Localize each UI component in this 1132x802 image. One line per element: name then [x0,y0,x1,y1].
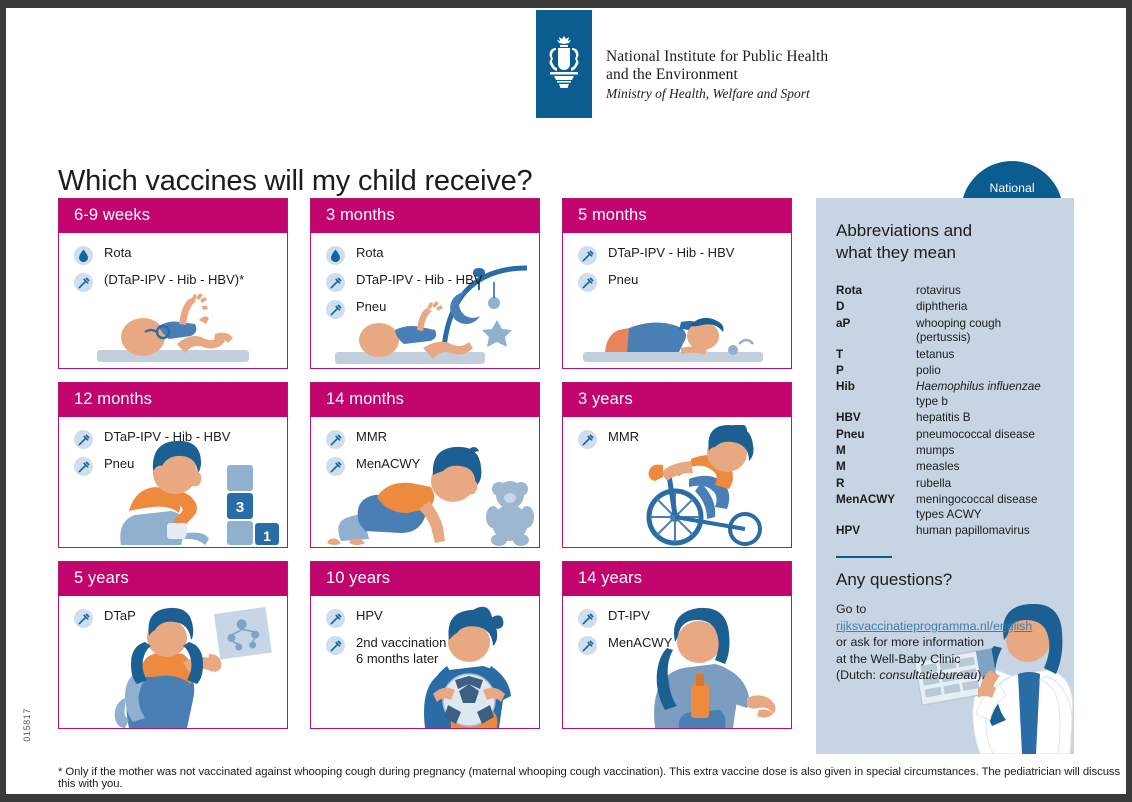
abbreviation-row: Rotarotavirus [836,284,1054,300]
schedule-row-2: 12 months DTaP-IPV - Hib - HBV Pneu [58,382,794,548]
vaccine-row: (DTaP-IPV - Hib - HBV)* [74,272,287,292]
logo-blue-bar [536,10,592,118]
goto-prefix: Go to [836,602,866,616]
syringe-icon [578,246,597,265]
card-age-label: 12 months [59,383,287,417]
syringe-icon [578,430,597,449]
abbreviation-key: P [836,364,916,380]
vaccine-label: DTaP [104,608,136,624]
page-title: Which vaccines will my child receive? [58,165,532,198]
abbreviation-row: Rrubella [836,477,1054,493]
abbreviation-value: meningococcal disease types ACWY [916,493,1054,524]
abbreviation-value: tetanus [916,348,1054,364]
badge-line-1: National [989,181,1034,196]
logo-line-1: National Institute for Public Health [606,48,828,66]
syringe-icon [74,609,93,628]
abbreviation-key: R [836,477,916,493]
card-age-label: 3 months [311,199,539,233]
logo-line-3: Ministry of Health, Welfare and Sport [606,85,828,103]
abbreviation-value: human papillomavirus [916,524,1054,540]
abbreviation-key: D [836,300,916,316]
abbreviation-key: Pneu [836,428,916,444]
abbreviation-value-hib: Haemophilus influenzae type b [916,380,1054,411]
vaccine-label: Pneu [356,299,386,315]
vaccine-row: DTaP [74,608,287,628]
abbreviation-value: pneumococcal disease [916,428,1054,444]
abbreviation-value: whooping cough (pertussis) [916,317,1054,348]
vaccine-label: 2nd vaccination 6 months later [356,635,446,667]
vaccine-row: HPV [326,608,539,628]
abbreviation-row: Ddiphtheria [836,300,1054,316]
abbreviation-value-italic: Haemophilus influenzae [916,380,1041,393]
abbreviation-key: Hib [836,380,916,411]
syringe-icon [74,457,93,476]
abbreviation-key: MenACWY [836,493,916,524]
vaccine-row: MMR [326,429,539,449]
abbreviation-key: Rota [836,284,916,300]
abbreviation-row: aPwhooping cough (pertussis) [836,317,1054,348]
logo-line-2: and the Environment [606,66,828,84]
schedule-card-14-months[interactable]: 14 months MMR MenACWY [310,382,540,548]
vaccine-label: DTaP-IPV - Hib - HBV [356,272,482,288]
card-age-label: 5 months [563,199,791,233]
abbreviation-row: HibHaemophilus influenzae type b [836,380,1054,411]
vaccine-label: (DTaP-IPV - Hib - HBV)* [104,272,244,288]
football [443,674,495,726]
schedule-row-1: 6-9 weeks Rota (DTaP-IPV - Hib - HBV)* [58,198,794,369]
netherlands-coat-of-arms-icon [544,34,584,94]
abbreviation-key: HBV [836,411,916,427]
abbreviation-value: rubella [916,477,1054,493]
questions-line-3: at the Well-Baby Clinic [836,652,960,666]
card-body: MMR [563,417,791,547]
schedule-card-10-years[interactable]: 10 years HPV 2nd vaccination 6 months la… [310,561,540,729]
vaccine-row: Pneu [578,272,791,292]
vaccine-label: Rota [104,245,131,261]
syringe-icon [74,273,93,292]
vaccine-row: Pneu [74,456,287,476]
card-body: Rota DTaP-IPV - Hib - HBV Pneu [311,233,539,368]
abbreviation-value: hepatitis B [916,411,1054,427]
rivm-logo: National Institute for Public Health and… [536,10,828,118]
card-body: DTaP-IPV - Hib - HBV Pneu [563,233,791,368]
vaccine-row: Rota [326,245,539,265]
document-side-code: 015817 [22,708,32,742]
abbreviation-value: measles [916,460,1054,476]
vaccine-label: MMR [356,429,387,445]
abbreviation-row: Ttetanus [836,348,1054,364]
schedule-card-14-years[interactable]: 14 years DT-IPV MenACWY [562,561,792,729]
vaccine-row: 2nd vaccination 6 months later [326,635,539,667]
card-age-label: 14 years [563,562,791,596]
abbreviation-row: Mmumps [836,444,1054,460]
vaccine-row: DTaP-IPV - Hib - HBV [74,429,287,449]
block-number-1: 1 [263,528,271,544]
syringe-icon [578,273,597,292]
abbreviation-key: HPV [836,524,916,540]
card-age-label: 10 years [311,562,539,596]
illustration-baby-lying-on-back [59,284,287,368]
syringe-icon [578,609,597,628]
sidebar-divider [836,556,892,558]
card-age-label: 5 years [59,562,287,596]
abbreviations-sidebar: Abbreviations and what they mean Rotarot… [816,198,1074,754]
syringe-icon [74,430,93,449]
syringe-icon [326,457,345,476]
teddy-bear [486,481,534,546]
illustration-toddler-with-blocks: 3 1 [59,437,287,547]
syringe-icon [326,609,345,628]
syringe-icon [326,636,345,655]
vaccine-row: MMR [578,429,791,449]
footnote-text: * Only if the mother was not vaccinated … [58,766,1126,790]
vaccine-label: HPV [356,608,383,624]
abbreviation-value: mumps [916,444,1054,460]
schedule-card-12-months[interactable]: 12 months DTaP-IPV - Hib - HBV Pneu [58,382,288,548]
vaccine-label: MenACWY [608,635,672,651]
questions-line-2: or ask for more information [836,635,984,649]
card-age-label: 14 months [311,383,539,417]
any-questions-text: Go to rijksvaccinatieprogramma.nl/englis… [836,601,1054,684]
card-age-label: 6-9 weeks [59,199,287,233]
abbreviation-row: Ppolio [836,364,1054,380]
abbreviation-key: T [836,348,916,364]
droplet-icon [326,246,345,265]
syringe-icon [326,430,345,449]
block-number-3: 3 [236,499,244,516]
vaccine-label: MenACWY [356,456,420,472]
vaccine-label: Pneu [104,456,134,472]
questions-line-4-italic: consultatiebureau [879,668,977,682]
abbreviation-key: aP [836,317,916,348]
vaccine-row: DTaP-IPV - Hib - HBV [578,245,791,265]
vaccine-row: DT-IPV [578,608,791,628]
schedule-card-3-months[interactable]: 3 months Rota DTaP-IPV - Hib - HBV [310,198,540,369]
abbreviation-key: M [836,460,916,476]
card-body: Rota (DTaP-IPV - Hib - HBV)* [59,233,287,368]
vaccine-label: Pneu [608,272,638,288]
schedule-row-3: 5 years DTaP [58,561,794,729]
abbreviation-value: rotavirus [916,284,1054,300]
schedule-card-5-years[interactable]: 5 years DTaP [58,561,288,729]
abbreviation-row: HPVhuman papillomavirus [836,524,1054,540]
schedule-card-6-9-weeks[interactable]: 6-9 weeks Rota (DTaP-IPV - Hib - HBV)* [58,198,288,369]
abbreviations-table: Rotarotavirus Ddiphtheria aPwhooping cou… [836,284,1054,540]
vaccination-schedule-grid: 6-9 weeks Rota (DTaP-IPV - Hib - HBV)* [58,198,794,742]
abbreviation-row: Mmeasles [836,460,1054,476]
abbreviation-value: diphtheria [916,300,1054,316]
abbreviation-key: M [836,444,916,460]
abbreviation-row: Pneupneumococcal disease [836,428,1054,444]
vaccine-row: Pneu [326,299,539,319]
poster-canvas: National Institute for Public Health and… [6,8,1126,794]
droplet-icon [74,246,93,265]
vaccine-row: MenACWY [326,456,539,476]
vaccine-label: MMR [608,429,639,445]
abbreviation-value: polio [916,364,1054,380]
card-body: DTaP-IPV - Hib - HBV Pneu 3 [59,417,287,547]
vaccine-label: DT-IPV [608,608,650,624]
any-questions-heading: Any questions? [836,570,1054,590]
vaccine-row: DTaP-IPV - Hib - HBV [326,272,539,292]
card-body: HPV 2nd vaccination 6 months later [311,596,539,728]
schedule-card-5-months[interactable]: 5 months DTaP-IPV - Hib - HBV Pneu [562,198,792,369]
abbreviations-heading: Abbreviations and what they mean [836,220,976,264]
vaccine-label: Rota [356,245,383,261]
schedule-card-3-years[interactable]: 3 years MMR [562,382,792,548]
abbreviation-row: MenACWYmeningococcal disease types ACWY [836,493,1054,524]
abbreviation-row: HBVhepatitis B [836,411,1054,427]
card-body: DTaP [59,596,287,728]
card-body: MMR MenACWY [311,417,539,547]
vaccine-label: DTaP-IPV - Hib - HBV [104,429,230,445]
card-age-label: 3 years [563,383,791,417]
card-body: DT-IPV MenACWY [563,596,791,728]
questions-line-4-suffix: ). [977,668,985,682]
vaccine-row: Rota [74,245,287,265]
website-link[interactable]: rijksvaccinatieprogramma.nl/english [836,619,1032,633]
syringe-icon [326,300,345,319]
syringe-icon [578,636,597,655]
questions-line-4-prefix: (Dutch: [836,668,879,682]
vaccine-row: MenACWY [578,635,791,655]
syringe-icon [326,273,345,292]
poster-page: National Institute for Public Health and… [0,0,1132,802]
vaccine-label: DTaP-IPV - Hib - HBV [608,245,734,261]
